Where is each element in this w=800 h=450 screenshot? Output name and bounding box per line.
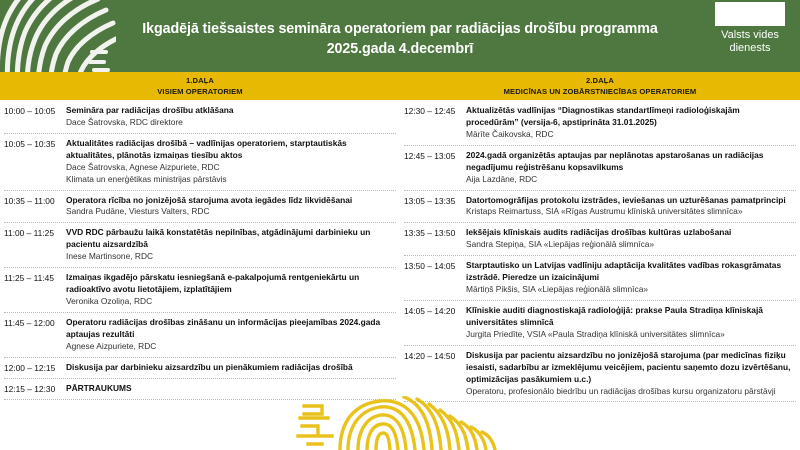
agenda-row[interactable]: 14:05 – 14:20 Klīniskie auditi diagnosti… bbox=[404, 301, 796, 346]
session-topic: PĀRTRAUKUMS bbox=[66, 383, 394, 395]
agenda-row[interactable]: 10:05 – 10:35 Aktualitātes radiācijas dr… bbox=[4, 134, 396, 191]
vvd-logo-placeholder-icon bbox=[715, 2, 785, 26]
session-time: 10:35 – 11:00 bbox=[4, 195, 66, 219]
agenda-row[interactable]: 11:25 – 11:45 Izmaiņas ikgadējo pārskatu… bbox=[4, 268, 396, 313]
session-speaker: Sandra Stepiņa, SIA «Liepājas reģionālā … bbox=[466, 239, 794, 251]
session-time: 11:00 – 11:25 bbox=[4, 227, 66, 263]
session-speaker: Mārīte Čaikovska, RDC bbox=[466, 129, 794, 141]
agenda-row[interactable]: 11:45 – 12:00 Operatoru radiācijas drošī… bbox=[4, 313, 396, 358]
agenda-row[interactable]: 11:00 – 11:25 VVD RDC pārbaužu laikā kon… bbox=[4, 223, 396, 268]
session-body: VVD RDC pārbaužu laikā konstatētās nepil… bbox=[66, 227, 396, 263]
part-1-number: 1.DAĻA bbox=[186, 75, 214, 86]
session-speaker: Inese Martinsone, RDC bbox=[66, 251, 394, 263]
session-topic: Starptautisko un Latvijas vadlīniju adap… bbox=[466, 260, 794, 284]
session-time: 14:20 – 14:50 bbox=[404, 350, 466, 398]
agenda-column-part-1: 10:00 – 10:05 Semināra par radiācijas dr… bbox=[4, 100, 396, 400]
organization-name-line-2: dienests bbox=[730, 42, 771, 54]
session-speaker: Mārtiņš Pikšis, SIA «Liepājas reģionālā … bbox=[466, 284, 794, 296]
part-header-2: 2.DAĻA MEDICĪNAS UN ZOBĀRSTNIECĪBAS OPER… bbox=[400, 72, 800, 100]
session-speaker: Dace Šatrovska, Agnese Aizpuriete, RDC bbox=[66, 162, 394, 174]
session-time: 12:15 – 12:30 bbox=[4, 383, 66, 395]
session-body: Operatoru radiācijas drošības zināšanu u… bbox=[66, 317, 396, 353]
session-topic: 2024.gadā organizētās aptaujas par neplā… bbox=[466, 150, 794, 174]
agenda-row[interactable]: 10:00 – 10:05 Semināra par radiācijas dr… bbox=[4, 100, 396, 134]
session-topic: Operatoru radiācijas drošības zināšanu u… bbox=[66, 317, 394, 341]
agenda-grid: 10:00 – 10:05 Semināra par radiācijas dr… bbox=[0, 100, 800, 450]
page-title: Ikgadējā tiešsaistes semināra operatorie… bbox=[120, 19, 680, 60]
session-topic: Diskusija par darbinieku aizsardzību un … bbox=[66, 362, 394, 374]
session-time: 13:35 – 13:50 bbox=[404, 227, 466, 251]
session-topic: Semināra par radiācijas drošību atklāšan… bbox=[66, 105, 394, 117]
session-body: PĀRTRAUKUMS bbox=[66, 383, 396, 395]
organization-name-line-1: Valsts vides bbox=[721, 29, 779, 41]
session-speaker: Agnese Aizpuriete, RDC bbox=[66, 341, 394, 353]
session-time: 11:25 – 11:45 bbox=[4, 272, 66, 308]
session-speaker: Jurgita Priedīte, VSIA «Paula Stradiņa k… bbox=[466, 329, 794, 341]
fingerprint-pattern-white-icon bbox=[0, 0, 116, 72]
agenda-row[interactable]: 13:05 – 13:35 Datortomogrāfijas protokol… bbox=[404, 191, 796, 224]
session-time: 10:05 – 10:35 bbox=[4, 138, 66, 186]
agenda-row[interactable]: 14:20 – 14:50 Diskusija par pacientu aiz… bbox=[404, 346, 796, 403]
session-topic: Datortomogrāfijas protokolu izstrādes, i… bbox=[466, 195, 794, 207]
page-title-line-1: Ikgadējā tiešsaistes semināra operatorie… bbox=[142, 21, 657, 37]
organization-logo: Valsts vides dienests bbox=[708, 2, 792, 55]
session-topic: Izmaiņas ikgadējo pārskatu iesniegšanā e… bbox=[66, 272, 394, 296]
part-2-number: 2.DAĻA bbox=[586, 75, 614, 86]
session-body: Iekšējais klīniskais audits radiācijas d… bbox=[466, 227, 796, 251]
page-header: Ikgadējā tiešsaistes semināra operatorie… bbox=[0, 0, 800, 72]
session-time: 13:50 – 14:05 bbox=[404, 260, 466, 296]
seminar-agenda-page: Ikgadējā tiešsaistes semināra operatorie… bbox=[0, 0, 800, 450]
session-body: Izmaiņas ikgadējo pārskatu iesniegšanā e… bbox=[66, 272, 396, 308]
part-header-1: 1.DAĻA VISIEM OPERATORIEM bbox=[0, 72, 400, 100]
agenda-row[interactable]: 12:00 – 12:15 Diskusija par darbinieku a… bbox=[4, 358, 396, 379]
session-speaker: Sandra Pudāne, Viesturs Valters, RDC bbox=[66, 206, 394, 218]
agenda-row[interactable]: 12:30 – 12:45 Aktualizētās vadlīnijas “D… bbox=[404, 100, 796, 146]
session-time: 11:45 – 12:00 bbox=[4, 317, 66, 353]
agenda-row[interactable]: 13:50 – 14:05 Starptautisko un Latvijas … bbox=[404, 256, 796, 301]
agenda-row[interactable]: 12:45 – 13:05 2024.gadā organizētās apta… bbox=[404, 146, 796, 191]
organization-name: Valsts vides dienests bbox=[708, 29, 792, 55]
session-topic: Operatora rīcība no jonizējošā starojuma… bbox=[66, 195, 394, 207]
session-body: Diskusija par darbinieku aizsardzību un … bbox=[66, 362, 396, 374]
part-header-bar: 1.DAĻA VISIEM OPERATORIEM 2.DAĻA MEDICĪN… bbox=[0, 72, 800, 100]
session-topic: Aktualizētās vadlīnijas “Diagnostikas st… bbox=[466, 105, 794, 129]
session-body: Semināra par radiācijas drošību atklāšan… bbox=[66, 105, 396, 129]
session-body: Diskusija par pacientu aizsardzību no jo… bbox=[466, 350, 796, 398]
session-speaker: Dace Šatrovska, RDC direktore bbox=[66, 117, 394, 129]
agenda-row[interactable]: 12:15 – 12:30 PĀRTRAUKUMS bbox=[4, 379, 396, 400]
session-speaker: Kristaps Reimartuss, SIA «Rīgas Austrumu… bbox=[466, 206, 794, 218]
session-time: 10:00 – 10:05 bbox=[4, 105, 66, 129]
session-topic: Klīniskie auditi diagnostiskajā radioloģ… bbox=[466, 305, 794, 329]
part-1-audience: VISIEM OPERATORIEM bbox=[157, 86, 242, 97]
session-time: 14:05 – 14:20 bbox=[404, 305, 466, 341]
session-topic: Aktualitātes radiācijas drošībā – vadlīn… bbox=[66, 138, 394, 162]
session-speaker-secondary: Klimata un enerģētikas ministrijas pārst… bbox=[66, 174, 394, 186]
session-speaker: Veronika Ozoliņa, RDC bbox=[66, 296, 394, 308]
session-speaker: Aija Lazdāne, RDC bbox=[466, 174, 794, 186]
agenda-row[interactable]: 13:35 – 13:50 Iekšējais klīniskais audit… bbox=[404, 223, 796, 256]
session-topic: Iekšējais klīniskais audits radiācijas d… bbox=[466, 227, 794, 239]
session-body: Aktualizētās vadlīnijas “Diagnostikas st… bbox=[466, 105, 796, 141]
part-2-audience: MEDICĪNAS UN ZOBĀRSTNIECĪBAS OPERATORIEM bbox=[504, 86, 697, 97]
session-body: Operatora rīcība no jonizējošā starojuma… bbox=[66, 195, 396, 219]
session-body: 2024.gadā organizētās aptaujas par neplā… bbox=[466, 150, 796, 186]
session-time: 12:45 – 13:05 bbox=[404, 150, 466, 186]
session-topic: Diskusija par pacientu aizsardzību no jo… bbox=[466, 350, 794, 386]
session-body: Aktualitātes radiācijas drošībā – vadlīn… bbox=[66, 138, 396, 186]
page-title-line-2: 2025.gada 4.decembrī bbox=[327, 41, 474, 57]
session-topic: VVD RDC pārbaužu laikā konstatētās nepil… bbox=[66, 227, 394, 251]
session-body: Klīniskie auditi diagnostiskajā radioloģ… bbox=[466, 305, 796, 341]
session-body: Datortomogrāfijas protokolu izstrādes, i… bbox=[466, 195, 796, 219]
agenda-row[interactable]: 10:35 – 11:00 Operatora rīcība no jonizē… bbox=[4, 191, 396, 224]
session-speaker: Operatoru, profesionālo biedrību un radi… bbox=[466, 386, 794, 398]
session-body: Starptautisko un Latvijas vadlīniju adap… bbox=[466, 260, 796, 296]
session-time: 12:30 – 12:45 bbox=[404, 105, 466, 141]
session-time: 12:00 – 12:15 bbox=[4, 362, 66, 374]
agenda-column-part-2: 12:30 – 12:45 Aktualizētās vadlīnijas “D… bbox=[404, 100, 796, 402]
session-time: 13:05 – 13:35 bbox=[404, 195, 466, 219]
